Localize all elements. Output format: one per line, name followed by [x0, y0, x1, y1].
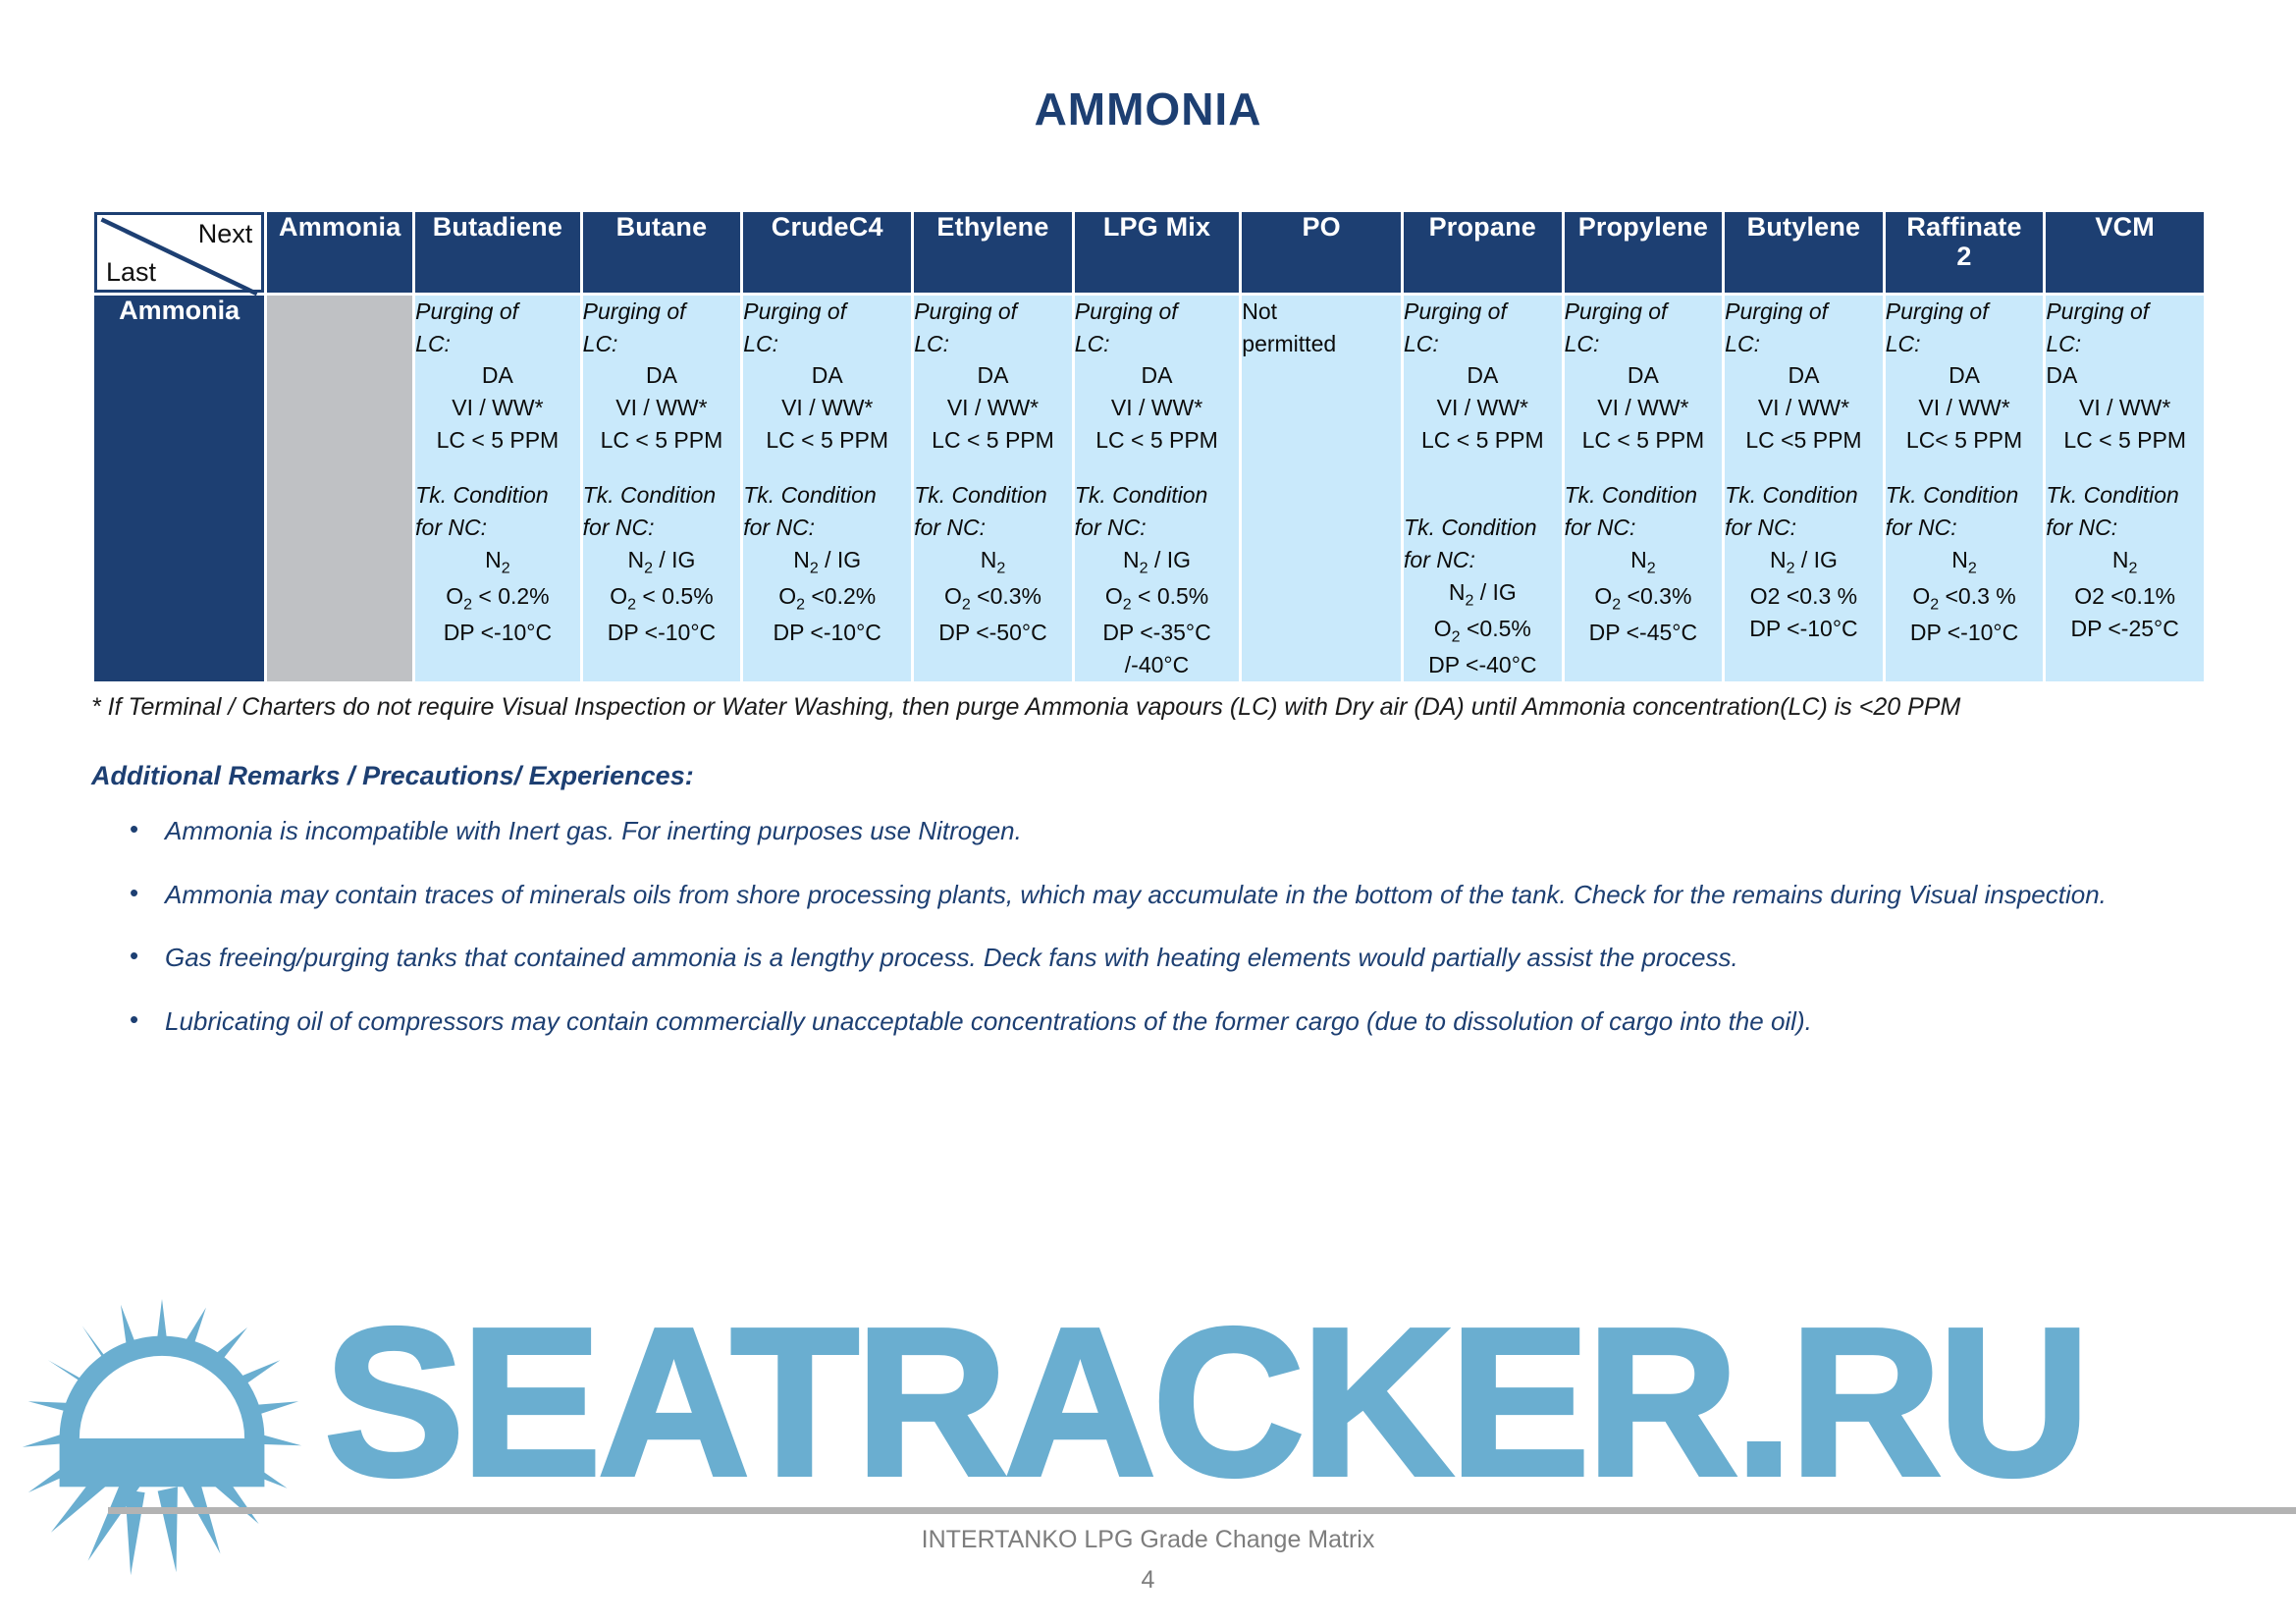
tk-line-n2: N2 / IG [743, 544, 911, 580]
tk-line-n2: N2 / IG [1075, 544, 1240, 580]
matrix-corner-cell: Next Last [94, 212, 264, 293]
page-footer: INTERTANKO LPG Grade Change Matrix 4 [0, 1526, 2296, 1595]
purge-line-lc: LC < 5 PPM [1404, 424, 1562, 457]
grade-change-matrix: Next Last Ammonia Butadiene Butane Crude… [91, 209, 2207, 684]
raffinate2-line2: 2 [1956, 242, 1971, 271]
matrix-table: Next Last Ammonia Butadiene Butane Crude… [91, 209, 2207, 684]
purge-title: Purging ofLC: [1075, 296, 1240, 359]
spacer [1725, 456, 1883, 479]
spacer [415, 456, 580, 479]
tk-line-o2: O2 <0.5% [1404, 613, 1562, 649]
tk-line-o2: O2 <0.2% [743, 580, 911, 617]
tk-title: Tk. Conditionfor NC: [1725, 479, 1883, 543]
spacer [583, 456, 741, 479]
tk-line-o2: O2 <0.3% [1565, 580, 1723, 617]
purge-line-lc: LC< 5 PPM [1886, 424, 2044, 457]
purge-title: Purging ofLC: [583, 296, 741, 359]
column-header-butane: Butane [583, 212, 741, 293]
column-header-butylene: Butylene [1725, 212, 1883, 293]
spacer [1886, 456, 2044, 479]
purge-line-lc: LC < 5 PPM [2046, 424, 2204, 457]
cell-ammonia-propane: Purging ofLC: DA VI / WW* LC < 5 PPM Tk.… [1404, 296, 1562, 681]
spacer-extra [1404, 479, 1562, 512]
tk-title: Tk. Conditionfor NC: [1886, 479, 2044, 543]
purge-line-da: DA [1565, 359, 1723, 392]
cell-ammonia-propylene: Purging ofLC: DA VI / WW* LC < 5 PPM Tk.… [1565, 296, 1723, 681]
tk-line-n2: N2 / IG [1404, 576, 1562, 613]
list-item: Lubricating oil of compressors may conta… [165, 1005, 2246, 1038]
purge-line-da: DA [415, 359, 580, 392]
cell-ammonia-po: Notpermitted [1242, 296, 1401, 681]
tk-line-n2: N2 / IG [1725, 544, 1883, 580]
page-number: 4 [0, 1566, 2296, 1595]
list-item: Ammonia may contain traces of minerals o… [165, 879, 2246, 911]
purge-title: Purging ofLC: [743, 296, 911, 359]
tk-title: Tk. Conditionfor NC: [583, 479, 741, 543]
purge-line-da: DA [1725, 359, 1883, 392]
column-header-lpg-mix: LPG Mix [1075, 212, 1240, 293]
cell-ammonia-butadiene: Purging ofLC: DA VI / WW* LC < 5 PPM Tk.… [415, 296, 580, 681]
spacer [2046, 456, 2204, 479]
purge-title: Purging ofLC: [914, 296, 1072, 359]
list-item: Gas freeing/purging tanks that contained… [165, 942, 2246, 974]
tk-line-dp: DP <-10°C [1725, 613, 1883, 645]
cell-ammonia-vcm: Purging ofLC: DA VI / WW* LC < 5 PPM Tk.… [2046, 296, 2204, 681]
purge-line-lc: LC < 5 PPM [1565, 424, 1723, 457]
purge-title: Purging ofLC: [415, 296, 580, 359]
purge-line-lc: LC < 5 PPM [1075, 424, 1240, 457]
table-footnote: * If Terminal / Charters do not require … [91, 693, 1960, 722]
tk-line-o2: O2 < 0.5% [1075, 580, 1240, 617]
tk-title: Tk. Conditionfor NC: [415, 479, 580, 543]
purge-line-lc: LC < 5 PPM [743, 424, 911, 457]
matrix-row-ammonia: Ammonia Purging ofLC: DA VI / WW* LC < 5… [94, 296, 2204, 681]
not-permitted-label: Notpermitted [1242, 296, 1401, 359]
tk-line-n2: N2 [1565, 544, 1723, 580]
purge-line-lc: LC < 5 PPM [415, 424, 580, 457]
remarks-heading: Additional Remarks / Precautions/ Experi… [91, 761, 694, 791]
purge-line-lc: LC < 5 PPM [583, 424, 741, 457]
column-header-vcm: VCM [2046, 212, 2204, 293]
tk-line-n2: N2 [1886, 544, 2044, 580]
column-header-propane: Propane [1404, 212, 1562, 293]
purge-line-da: DA [914, 359, 1072, 392]
spacer [1075, 456, 1240, 479]
purge-title: Purging ofLC: [1404, 296, 1562, 359]
purge-line-viww: VI / WW* [583, 392, 741, 424]
cell-ammonia-lpg-mix: Purging ofLC: DA VI / WW* LC < 5 PPM Tk.… [1075, 296, 1240, 681]
purge-line-da: DA [743, 359, 911, 392]
purge-line-lc: LC <5 PPM [1725, 424, 1883, 457]
tk-line-dp: DP <-45°C [1565, 617, 1723, 649]
list-item: Ammonia is incompatible with Inert gas. … [165, 815, 2246, 847]
tk-line-o2: O2 <0.3 % [1886, 580, 2044, 617]
cell-ammonia-butylene: Purging ofLC: DA VI / WW* LC <5 PPM Tk. … [1725, 296, 1883, 681]
tk-line-o2: O2 <0.1% [2046, 580, 2204, 613]
column-header-crudec4: CrudeC4 [743, 212, 911, 293]
page-title: AMMONIA [0, 82, 2296, 135]
cell-ammonia-ammonia [267, 296, 412, 681]
tk-line-dp2: /-40°C [1075, 649, 1240, 681]
tk-line-dp: DP <-25°C [2046, 613, 2204, 645]
spacer [1565, 456, 1723, 479]
spacer [914, 456, 1072, 479]
purge-line-lc: LC < 5 PPM [914, 424, 1072, 457]
row-header-ammonia: Ammonia [94, 296, 264, 681]
tk-line-n2: N2 [914, 544, 1072, 580]
tk-line-dp: DP <-10°C [1886, 617, 2044, 649]
tk-title: Tk. Conditionfor NC: [914, 479, 1072, 543]
corner-next-label: Next [198, 219, 253, 249]
remarks-list: Ammonia is incompatible with Inert gas. … [108, 815, 2246, 1068]
tk-line-o2: O2 < 0.2% [415, 580, 580, 617]
column-header-ammonia: Ammonia [267, 212, 412, 293]
column-header-raffinate2: Raffinate2 [1886, 212, 2044, 293]
watermark-text: SEATRACKER.RU [324, 1296, 2086, 1507]
purge-line-da: DA [1075, 359, 1240, 392]
cell-ammonia-raffinate2: Purging ofLC: DA VI / WW* LC< 5 PPM Tk. … [1886, 296, 2044, 681]
purge-title: Purging ofLC: [1725, 296, 1883, 359]
tk-line-dp: DP <-10°C [583, 617, 741, 649]
purge-line-viww: VI / WW* [914, 392, 1072, 424]
purge-line-viww: VI / WW* [1725, 392, 1883, 424]
cell-ammonia-butane: Purging ofLC: DA VI / WW* LC < 5 PPM Tk.… [583, 296, 741, 681]
purge-title: Purging ofLC: [2046, 296, 2204, 359]
column-header-ethylene: Ethylene [914, 212, 1072, 293]
raffinate2-line1: Raffinate [1906, 212, 2021, 242]
column-header-propylene: Propylene [1565, 212, 1723, 293]
tk-line-o2: O2 <0.3% [914, 580, 1072, 617]
purge-line-da: DA [1886, 359, 2044, 392]
purge-line-viww: VI / WW* [1404, 392, 1562, 424]
purge-title: Purging ofLC: [1565, 296, 1723, 359]
tk-line-o2: O2 <0.3 % [1725, 580, 1883, 613]
tk-title: Tk. Conditionfor NC: [743, 479, 911, 543]
purge-line-da: DA [2046, 359, 2204, 392]
purge-line-da: DA [1404, 359, 1562, 392]
tk-line-dp: DP <-10°C [743, 617, 911, 649]
tk-title: Tk. Conditionfor NC: [1565, 479, 1723, 543]
corner-last-label: Last [106, 257, 156, 288]
purge-title: Purging ofLC: [1886, 296, 2044, 359]
purge-line-viww: VI / WW* [415, 392, 580, 424]
tk-line-n2: N2 [415, 544, 580, 580]
tk-line-dp: DP <-10°C [415, 617, 580, 649]
purge-line-viww: VI / WW* [2046, 392, 2204, 424]
tk-title: Tk. Conditionfor NC: [1404, 512, 1562, 575]
spacer [743, 456, 911, 479]
purge-line-viww: VI / WW* [743, 392, 911, 424]
purge-line-da: DA [583, 359, 741, 392]
purge-line-viww: VI / WW* [1886, 392, 2044, 424]
watermark-rule [108, 1507, 2296, 1514]
column-header-po: PO [1242, 212, 1401, 293]
purge-line-viww: VI / WW* [1075, 392, 1240, 424]
column-header-butadiene: Butadiene [415, 212, 580, 293]
matrix-header-row: Next Last Ammonia Butadiene Butane Crude… [94, 212, 2204, 293]
tk-line-n2: N2 / IG [583, 544, 741, 580]
tk-line-n2: N2 [2046, 544, 2204, 580]
tk-line-dp: DP <-35°C [1075, 617, 1240, 649]
tk-title: Tk. Conditionfor NC: [1075, 479, 1240, 543]
footer-title: INTERTANKO LPG Grade Change Matrix [922, 1526, 1375, 1553]
cell-ammonia-ethylene: Purging ofLC: DA VI / WW* LC < 5 PPM Tk.… [914, 296, 1072, 681]
tk-title: Tk. Conditionfor NC: [2046, 479, 2204, 543]
purge-line-viww: VI / WW* [1565, 392, 1723, 424]
cell-ammonia-crudec4: Purging ofLC: DA VI / WW* LC < 5 PPM Tk.… [743, 296, 911, 681]
tk-line-dp: DP <-40°C [1404, 649, 1562, 681]
spacer [1404, 456, 1562, 479]
tk-line-o2: O2 < 0.5% [583, 580, 741, 617]
tk-line-dp: DP <-50°C [914, 617, 1072, 649]
